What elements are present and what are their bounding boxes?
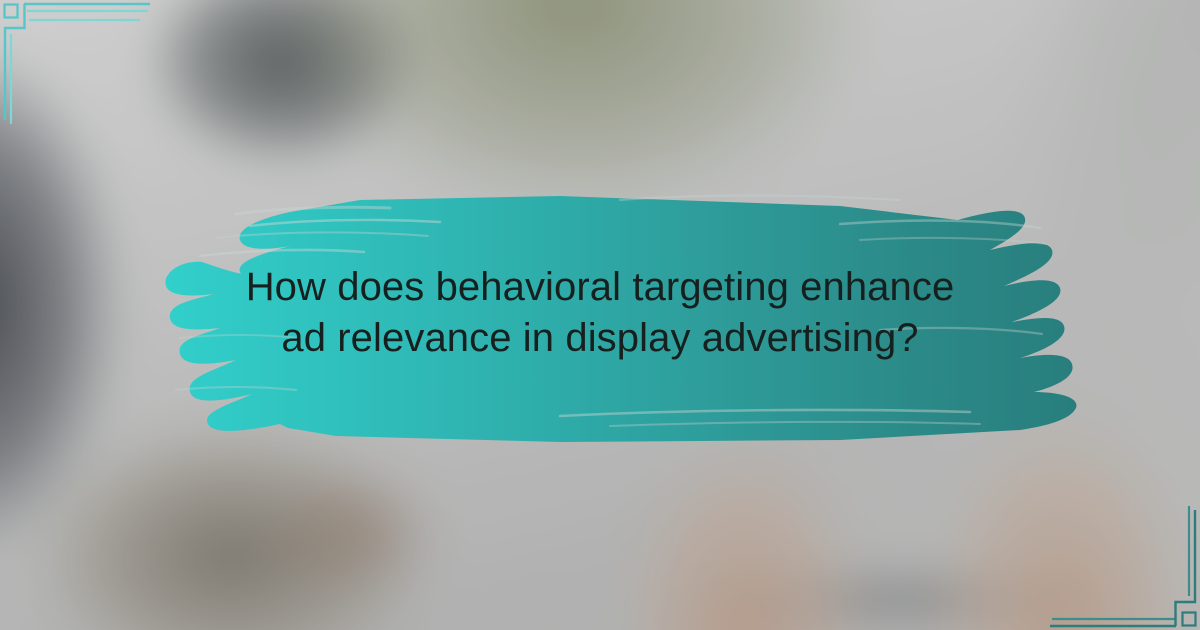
question-card: How does behavioral targeting enhance ad… (0, 0, 1200, 630)
brush-stroke-banner (140, 178, 1080, 446)
